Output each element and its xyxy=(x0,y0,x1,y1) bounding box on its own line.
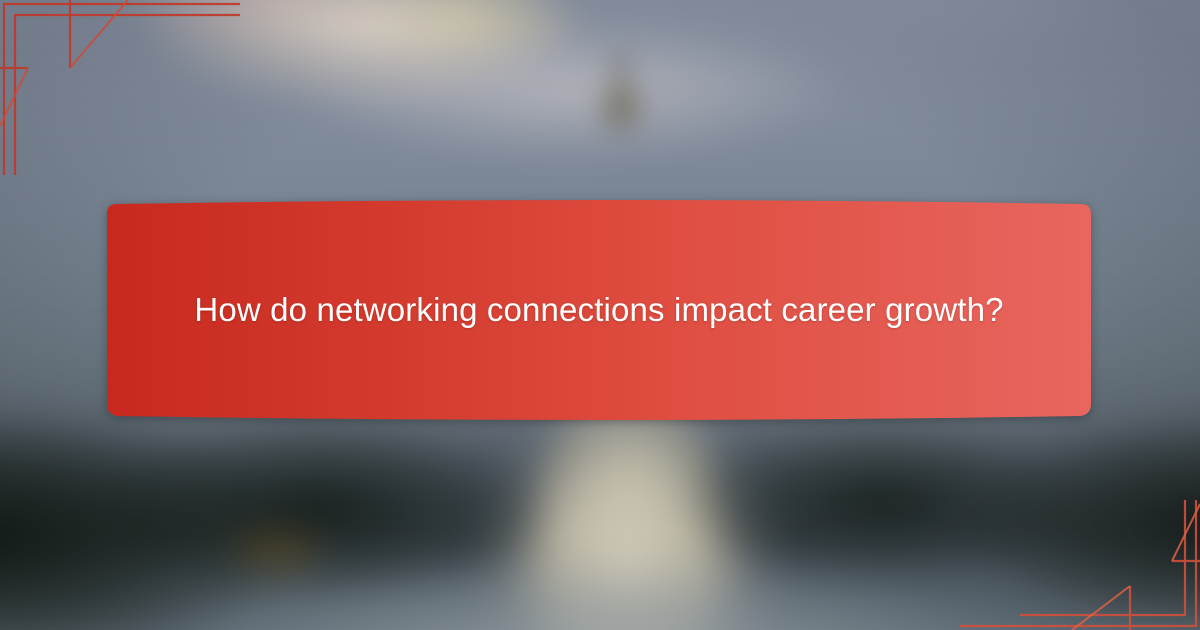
question-text: How do networking connections impact car… xyxy=(97,196,1101,424)
share-card-canvas: How do networking connections impact car… xyxy=(0,0,1200,630)
question-card[interactable]: How do networking connections impact car… xyxy=(97,196,1101,424)
